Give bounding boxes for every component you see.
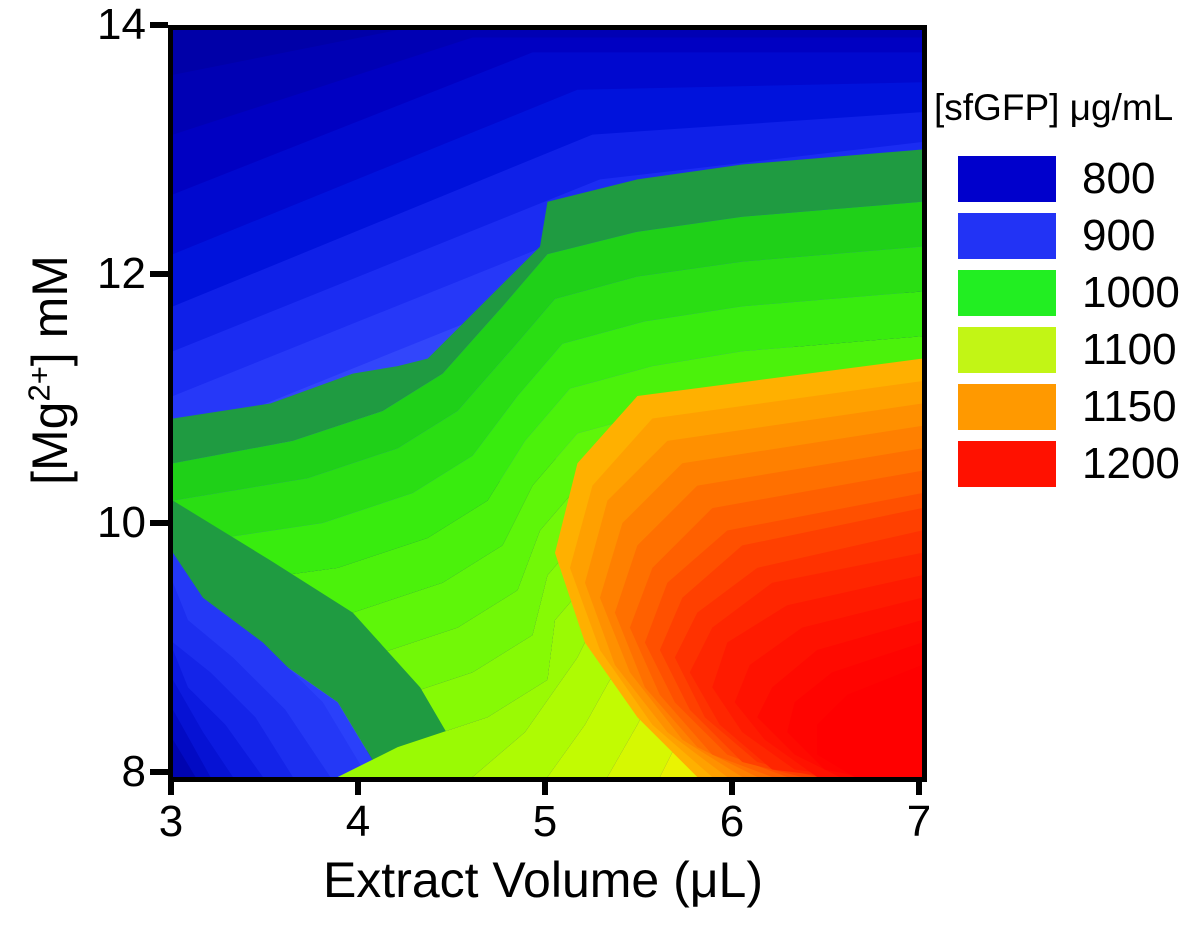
contour-bands-svg (173, 30, 922, 777)
x-tick-label-4: 4 (346, 800, 370, 844)
y-tick-mark-10 (150, 520, 168, 526)
x-tick-mark-6 (729, 777, 735, 795)
x-tick-mark-5 (542, 777, 548, 795)
legend-item-1150[interactable]: 1150 (930, 383, 1192, 431)
x-tick-label-6: 6 (720, 800, 744, 844)
legend-item-1100[interactable]: 1100 (930, 326, 1192, 374)
legend: [sfGFP] μg/mL 800 900 1000 1100 1150 120… (930, 88, 1192, 497)
legend-label-1000: 1000 (1082, 271, 1180, 315)
legend-swatch-900 (958, 213, 1056, 259)
y-tick-label-10: 10 (60, 501, 146, 545)
y-tick-mark-12 (150, 271, 168, 277)
x-tick-label-5: 5 (533, 800, 557, 844)
legend-swatch-800 (958, 156, 1056, 202)
x-tick-mark-3 (168, 777, 174, 795)
legend-label-1150: 1150 (1082, 385, 1177, 429)
legend-item-900[interactable]: 900 (930, 212, 1192, 260)
legend-item-1000[interactable]: 1000 (930, 269, 1192, 317)
y-tick-mark-14 (150, 22, 168, 28)
legend-swatch-1100 (958, 327, 1056, 373)
y-tick-label-12: 12 (60, 252, 146, 296)
legend-swatch-1150 (958, 384, 1056, 430)
legend-label-1100: 1100 (1082, 328, 1177, 372)
x-tick-mark-4 (355, 777, 361, 795)
y-tick-label-14: 14 (60, 3, 146, 47)
legend-label-1200: 1200 (1082, 442, 1180, 486)
x-tick-label-7: 7 (907, 800, 931, 844)
legend-label-800: 800 (1082, 157, 1155, 201)
legend-item-1200[interactable]: 1200 (930, 440, 1192, 488)
x-tick-mark-7 (916, 777, 922, 795)
x-axis-title: Extract Volume (μL) (168, 855, 918, 905)
contour-plot-figure: [Mg2+] mM 14 12 10 8 (0, 0, 1200, 943)
contour-plot-area (168, 25, 927, 782)
y-axis-title-superscript: 2+ (21, 366, 56, 401)
legend-swatch-1000 (958, 270, 1056, 316)
legend-item-800[interactable]: 800 (930, 155, 1192, 203)
y-tick-label-8: 8 (60, 750, 146, 794)
legend-title: [sfGFP] μg/mL (934, 88, 1192, 129)
legend-swatch-1200 (958, 441, 1056, 487)
x-axis-tick-labels: 3 4 5 6 7 (0, 800, 1200, 860)
x-tick-label-3: 3 (159, 800, 183, 844)
legend-label-900: 900 (1082, 214, 1155, 258)
y-tick-mark-8 (150, 769, 168, 775)
